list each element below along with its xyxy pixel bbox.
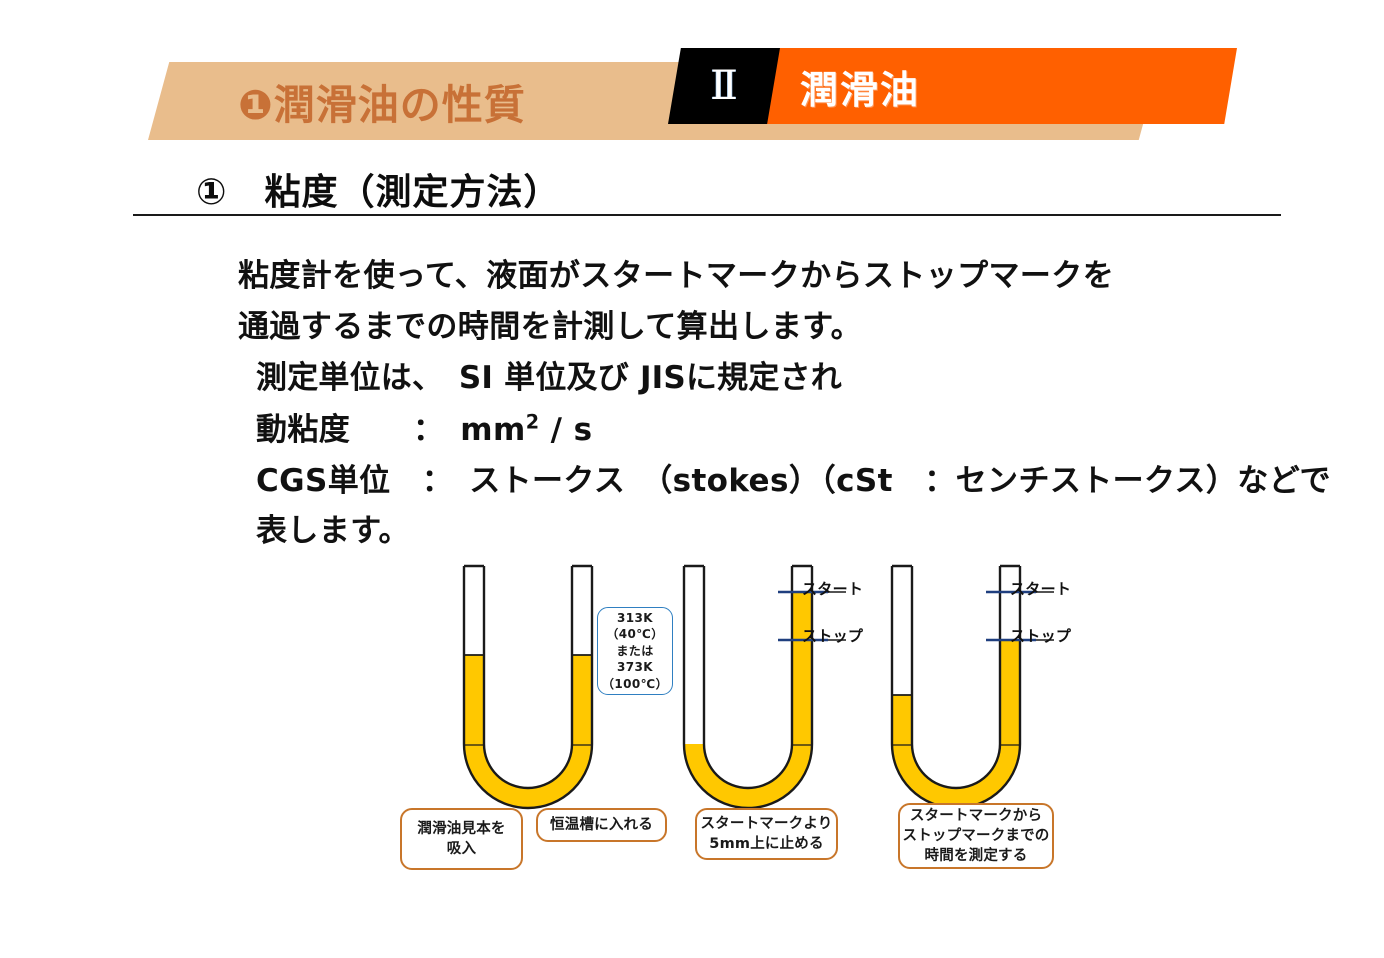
heading-divider (133, 214, 1281, 216)
temperature-callout: 313K （40℃） または 373K （100℃） (597, 607, 673, 695)
temp-line-1: 313K (617, 610, 653, 627)
caption-step-2: 恒温槽に入れる (536, 808, 667, 842)
header-banner: ❶潤滑油の性質 Ⅱ 潤滑油 (0, 0, 1384, 150)
body-line-2: 通過するまでの時間を計測して算出します。 (238, 301, 862, 346)
chapter-title: 潤滑油 (800, 48, 920, 124)
header-section-label: ❶潤滑油の性質 (238, 62, 526, 140)
temp-line-4: 373K (617, 659, 653, 676)
temp-line-2: （40℃） (606, 626, 663, 643)
body-line-5: CGS単位 ： ストークス （stokes）（cSt ：センチストークス）などで (256, 455, 1331, 500)
stop-mark-label-tube2: ストップ (802, 625, 863, 646)
caption-step-4: スタートマークからストップマークまでの時間を測定する (898, 803, 1054, 869)
u-tube-3 (892, 566, 1054, 808)
body-line-3: 測定単位は、 SI 単位及び JISに規定され (256, 352, 842, 397)
unit-exponent: 2 (526, 411, 540, 434)
u-tube-2 (684, 566, 846, 808)
kinematic-viscosity-label: 動粘度 ： mm (256, 412, 526, 448)
chapter-numeral: Ⅱ (668, 48, 780, 124)
u-tube-1 (464, 566, 592, 808)
page-title: ① 粘度（測定方法） (196, 163, 560, 215)
temp-line-3: または (616, 643, 653, 660)
start-mark-label-tube2: スタート (802, 578, 863, 599)
body-line-1: 粘度計を使って、液面がスタートマークからストップマークを (238, 250, 1114, 295)
stop-mark-label-tube3: ストップ (1010, 625, 1071, 646)
body-line-6: 表します。 (256, 505, 410, 550)
temp-line-5: （100℃） (602, 676, 668, 693)
start-mark-label-tube3: スタート (1010, 578, 1071, 599)
caption-step-3: スタートマークより5mm上に止める (695, 808, 838, 860)
caption-step-1: 潤滑油見本を吸入 (400, 808, 523, 870)
unit-tail: / s (539, 412, 592, 448)
body-line-4: 動粘度 ： mm2 / s (256, 404, 592, 449)
